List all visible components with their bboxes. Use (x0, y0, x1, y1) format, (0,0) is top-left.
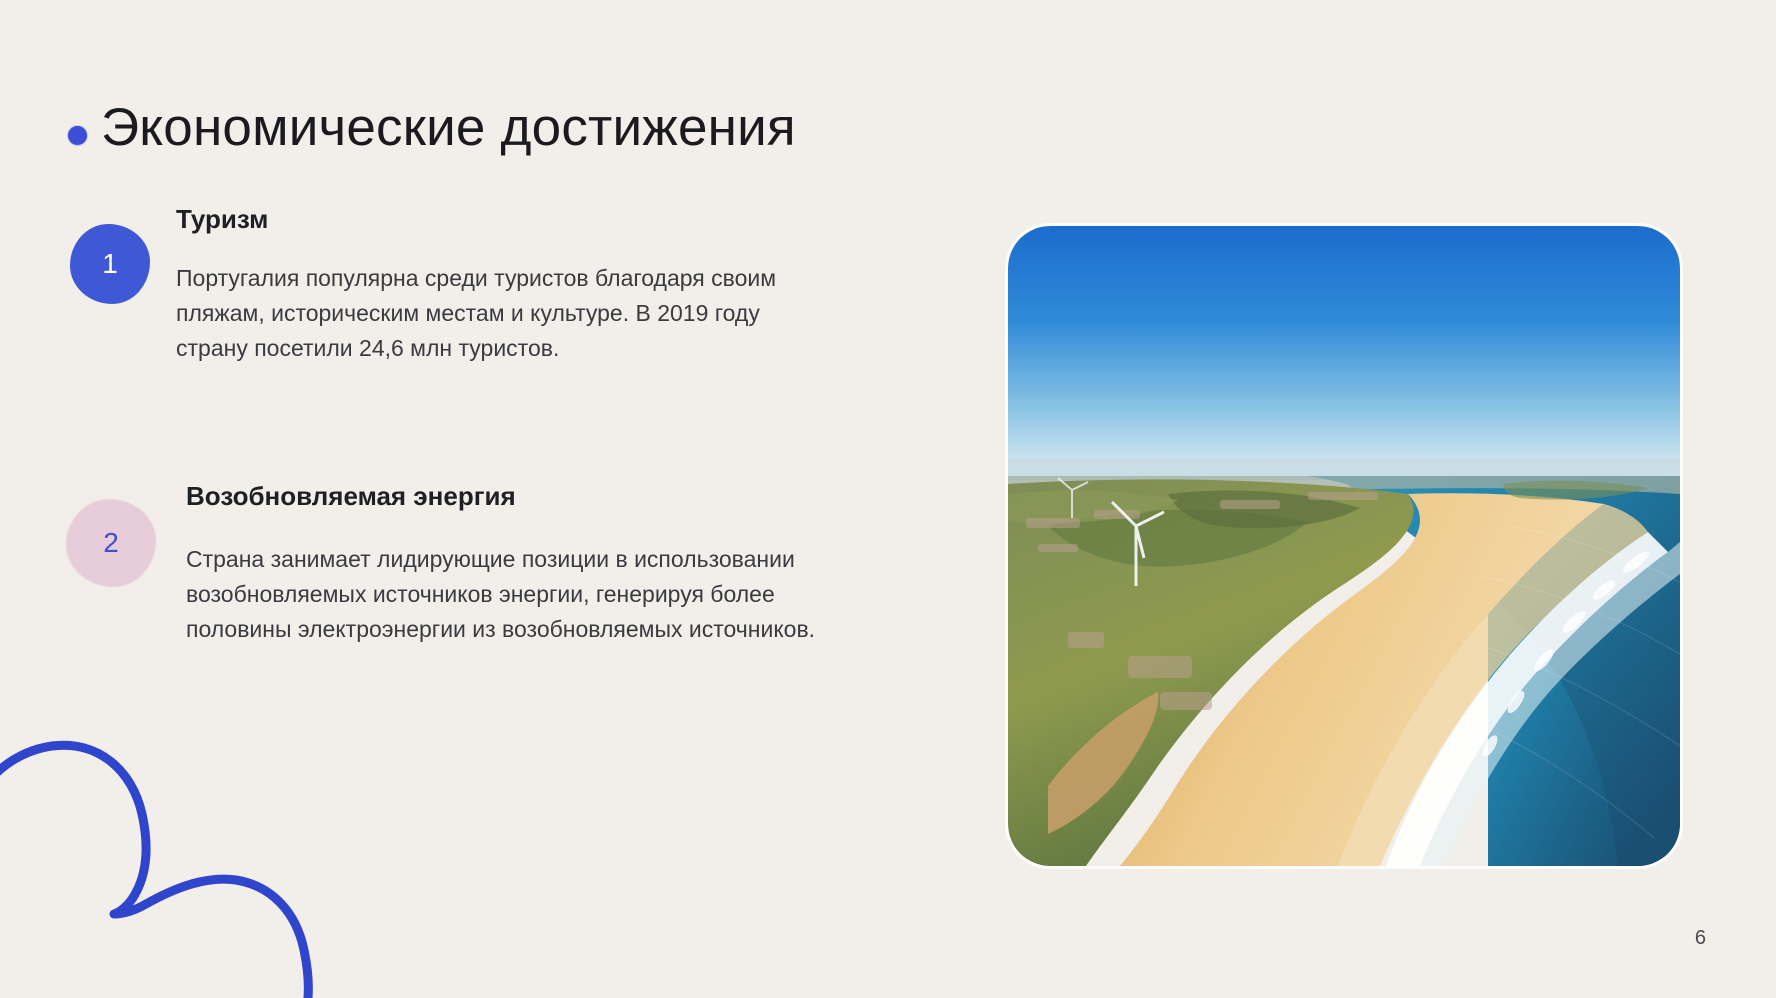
badge-container: 2 (64, 473, 176, 583)
item-number-badge-1: 1 (70, 224, 150, 304)
coastline-photo (1008, 226, 1680, 866)
item-number-label: 2 (103, 529, 119, 557)
decorative-squiggle (0, 690, 390, 998)
slide: Экономические достижения 1 Туризм Португ… (0, 0, 1776, 998)
page-title: Экономические достижения (101, 98, 796, 157)
item-body: Страна занимает лидирующие позиции в исп… (186, 542, 826, 647)
item-heading: Туризм (176, 204, 854, 235)
list-item: 2 Возобновляемая энергия Страна занимает… (64, 473, 854, 647)
achievements-list: 1 Туризм Португалия популярна среди тури… (64, 196, 854, 647)
list-item: 1 Туризм Португалия популярна среди тури… (64, 196, 854, 366)
badge-container: 1 (64, 196, 176, 306)
page-number: 6 (1695, 927, 1706, 950)
item-number-label: 1 (102, 250, 118, 278)
slide-title-row: Экономические достижения (68, 62, 796, 192)
item-text-block: Возобновляемая энергия Страна занимает л… (176, 473, 854, 647)
item-body: Португалия популярна среди туристов благ… (176, 261, 816, 366)
bullet-dot-icon (68, 126, 87, 145)
item-text-block: Туризм Португалия популярна среди турист… (176, 196, 854, 366)
item-number-badge-2: 2 (66, 499, 156, 587)
item-heading: Возобновляемая энергия (186, 481, 854, 512)
